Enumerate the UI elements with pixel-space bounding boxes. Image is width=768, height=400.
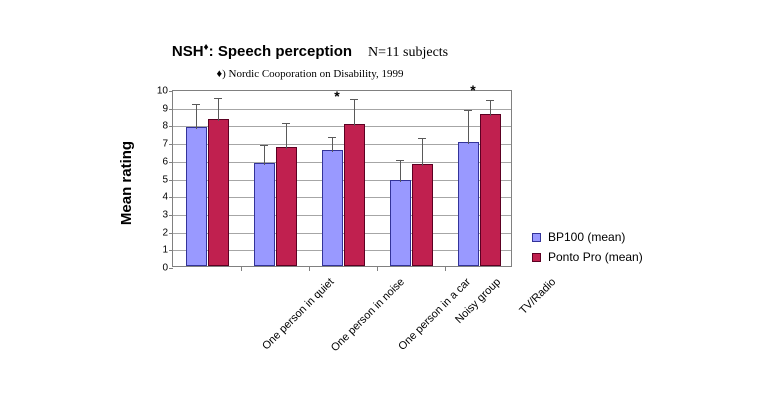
y-axis-tick-label: 3	[162, 209, 168, 220]
y-axis-tick-label: 5	[162, 174, 168, 185]
y-axis-tick-mark	[169, 233, 173, 234]
chart-title: NSH♦: Speech perceptionN=11 subjects	[0, 42, 620, 61]
y-axis-tick-label: 10	[157, 86, 168, 97]
legend-swatch-icon	[532, 233, 541, 242]
error-bar-stem	[332, 137, 333, 152]
significance-star: *	[470, 83, 475, 97]
error-bar-cap	[350, 99, 358, 100]
x-axis-tick-mark	[377, 266, 378, 271]
y-axis-tick-mark	[169, 91, 173, 92]
bar	[186, 127, 207, 266]
bar	[412, 164, 433, 266]
error-bar-stem	[218, 98, 219, 121]
gridline	[173, 109, 511, 110]
bar	[322, 150, 343, 266]
error-bar-stem	[354, 99, 355, 126]
bar	[254, 163, 275, 266]
chart-subtitle: ♦) Nordic Cooporation on Disability, 199…	[0, 64, 620, 82]
chart-legend: BP100 (mean)Ponto Pro (mean)	[532, 227, 643, 267]
error-bar-cap	[192, 104, 200, 105]
error-bar-stem	[490, 100, 491, 116]
error-bar-stem	[264, 145, 265, 165]
error-bar-cap	[486, 100, 494, 101]
error-bar-stem	[196, 104, 197, 129]
bar	[480, 114, 501, 266]
x-axis-label: TV/Radio	[517, 276, 558, 317]
chart-figure: NSH♦: Speech perceptionN=11 subjects ♦) …	[0, 0, 768, 400]
legend-item[interactable]: BP100 (mean)	[532, 227, 643, 247]
y-axis-tick-mark	[169, 215, 173, 216]
y-axis-title: Mean rating	[118, 128, 135, 238]
y-axis-tick-label: 6	[162, 156, 168, 167]
error-bar-cap	[328, 137, 336, 138]
error-bar-cap	[396, 160, 404, 161]
y-axis-tick-mark	[169, 144, 173, 145]
bar	[344, 124, 365, 266]
x-axis-label: One person in noise	[329, 276, 407, 354]
error-bar-stem	[422, 138, 423, 166]
error-bar-cap	[260, 145, 268, 146]
y-axis-tick-mark	[169, 126, 173, 127]
x-axis-tick-mark	[445, 266, 446, 271]
bar	[458, 142, 479, 266]
error-bar-stem	[468, 110, 469, 144]
legend-item[interactable]: Ponto Pro (mean)	[532, 247, 643, 267]
error-bar-stem	[286, 123, 287, 150]
x-axis-label: One person in quiet	[260, 276, 336, 352]
error-bar-cap	[282, 123, 290, 124]
legend-label: Ponto Pro (mean)	[548, 250, 643, 264]
y-axis-tick-label: 7	[162, 139, 168, 150]
y-axis-tick-label: 2	[162, 227, 168, 238]
chart-title-main: NSH♦: Speech perception	[172, 43, 352, 60]
chart-title-subject-count: N=11 subjects	[368, 45, 448, 60]
bar	[390, 180, 411, 266]
legend-label: BP100 (mean)	[548, 230, 625, 244]
y-axis-tick-mark	[169, 109, 173, 110]
y-axis-tick-label: 8	[162, 121, 168, 132]
y-axis-tick-mark	[169, 197, 173, 198]
y-axis-tick-mark	[169, 162, 173, 163]
y-axis-tick-mark	[169, 180, 173, 181]
y-axis-tick-label: 4	[162, 192, 168, 203]
y-axis-tick-label: 0	[162, 263, 168, 274]
y-axis-tick-label: 9	[162, 103, 168, 114]
x-axis-tick-mark	[241, 266, 242, 271]
legend-swatch-icon	[532, 253, 541, 262]
y-axis-tick-mark	[169, 250, 173, 251]
error-bar-cap	[464, 110, 472, 111]
error-bar-stem	[400, 160, 401, 182]
plot-area: 012345678910**	[172, 90, 512, 267]
error-bar-cap	[214, 98, 222, 99]
error-bar-cap	[418, 138, 426, 139]
bar	[208, 119, 229, 266]
bar	[276, 147, 297, 266]
y-axis-tick-label: 1	[162, 245, 168, 256]
significance-star: *	[334, 89, 339, 103]
x-axis-tick-mark	[309, 266, 310, 271]
y-axis-tick-mark	[169, 268, 173, 269]
